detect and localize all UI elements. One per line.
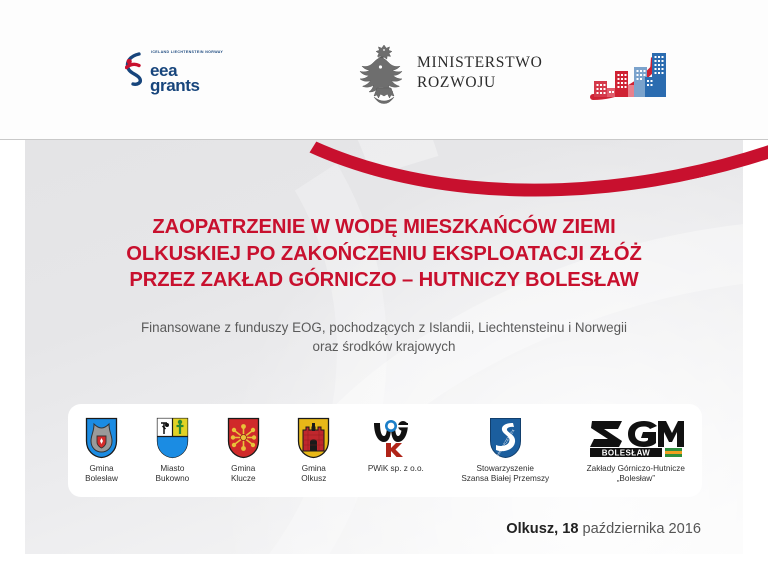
partner-gmina-boleslaw: Gmina Bolesław (85, 414, 118, 485)
ministry-line-2: ROZWOJU (417, 73, 543, 93)
szansa-logo-icon: BIAŁA PRZEMSZA (489, 417, 522, 459)
title-line-3: PRZEZ ZAKŁAD GÓRNICZO – HUTNICZY BOLESŁA… (40, 267, 728, 294)
ministry-line-1: MINISTERSTWO (417, 53, 543, 73)
eea-word-grants: grants (150, 78, 200, 94)
subtitle-line-1: Finansowane z funduszy EOG, pochodzących… (60, 318, 708, 337)
date-month-year: października 2016 (578, 521, 701, 537)
logo-art: BOLESŁAW (588, 414, 684, 459)
eea-grants-logo: ICELAND LIECHTENSTEIN NORWAY eea grants (125, 48, 220, 100)
ministry-name: MINISTERSTWO ROZWOJU (417, 53, 543, 93)
partner-caption: Zakłady Górniczo-Hutnicze „Bolesław” (587, 464, 685, 485)
coat-of-arms-olkusz-icon (297, 417, 330, 459)
funding-subtitle: Finansowane z funduszy EOG, pochodzących… (60, 318, 708, 356)
header-logo-row: ICELAND LIECHTENSTEIN NORWAY eea grants (25, 0, 768, 139)
partner-zgh-boleslaw: BOLESŁAW Zakłady Górniczo-Hutnicze „Bole… (587, 414, 685, 485)
partner-gmina-olkusz: Gmina Olkusz (297, 414, 330, 485)
title-line-2: OLKUSKIEJ PO ZAKOŃCZENIU EKSPLOATACJI ZŁ… (40, 241, 728, 268)
pwik-logo-icon (370, 417, 422, 459)
partner-caption: Gmina Bolesław (85, 464, 118, 485)
logo-art (156, 414, 189, 459)
coat-of-arms-bukowno-icon (156, 417, 189, 459)
ministerstwo-rozwoju-logo: MINISTERSTWO ROZWOJU (355, 42, 540, 108)
logo-art: BIAŁA PRZEMSZA (489, 414, 522, 459)
logo-art (85, 414, 118, 459)
page-title: ZAOPATRZENIE W WODĘ MIESZKAŃCÓW ZIEMI OL… (40, 214, 728, 294)
logo-art (297, 414, 330, 459)
place-and-date: Olkusz, 18 października 2016 (506, 521, 701, 537)
polish-eagle-emblem-icon (355, 42, 413, 106)
partner-caption: Gmina Klucze (231, 464, 256, 485)
coat-of-arms-boleslaw-icon (85, 417, 118, 459)
eea-donor-countries: ICELAND LIECHTENSTEIN NORWAY (151, 50, 223, 54)
eea-grants-mark-icon (125, 52, 147, 86)
slide-header-band: ICELAND LIECHTENSTEIN NORWAY eea grants (0, 0, 768, 140)
partner-gmina-klucze: Gmina Klucze (227, 414, 260, 485)
date-place-day: Olkusz, 18 (506, 521, 578, 537)
partner-caption: PWiK sp. z o.o. (368, 464, 424, 474)
partner-caption: Gmina Olkusz (301, 464, 326, 485)
partner-caption: Stowarzyszenie Szansa Białej Przemszy (461, 464, 549, 485)
svg-text:BOLESŁAW: BOLESŁAW (602, 448, 651, 457)
partner-logo-bar: Gmina Bolesław (68, 404, 702, 497)
subtitle-line-2: oraz środków krajowych (60, 337, 708, 356)
title-line-1: ZAOPATRZENIE W WODĘ MIESZKAŃCÓW ZIEMI (40, 214, 728, 241)
presentation-slide: ICELAND LIECHTENSTEIN NORWAY eea grants (0, 0, 768, 576)
coat-of-arms-klucze-icon (227, 417, 260, 459)
partner-pwik: PWiK sp. z o.o. (368, 414, 424, 474)
partner-caption: Miasto Bukowno (156, 464, 190, 485)
partner-miasto-bukowno: Miasto Bukowno (156, 414, 190, 485)
zgh-boleslaw-logo-icon: BOLESŁAW (588, 417, 684, 459)
buildings-growth-logo-icon (590, 45, 672, 103)
partner-szansa-bialej-przemszy: BIAŁA PRZEMSZA Stowarzyszenie Szansa Bia… (461, 414, 549, 485)
logo-art (227, 414, 260, 459)
logo-art (370, 414, 422, 459)
